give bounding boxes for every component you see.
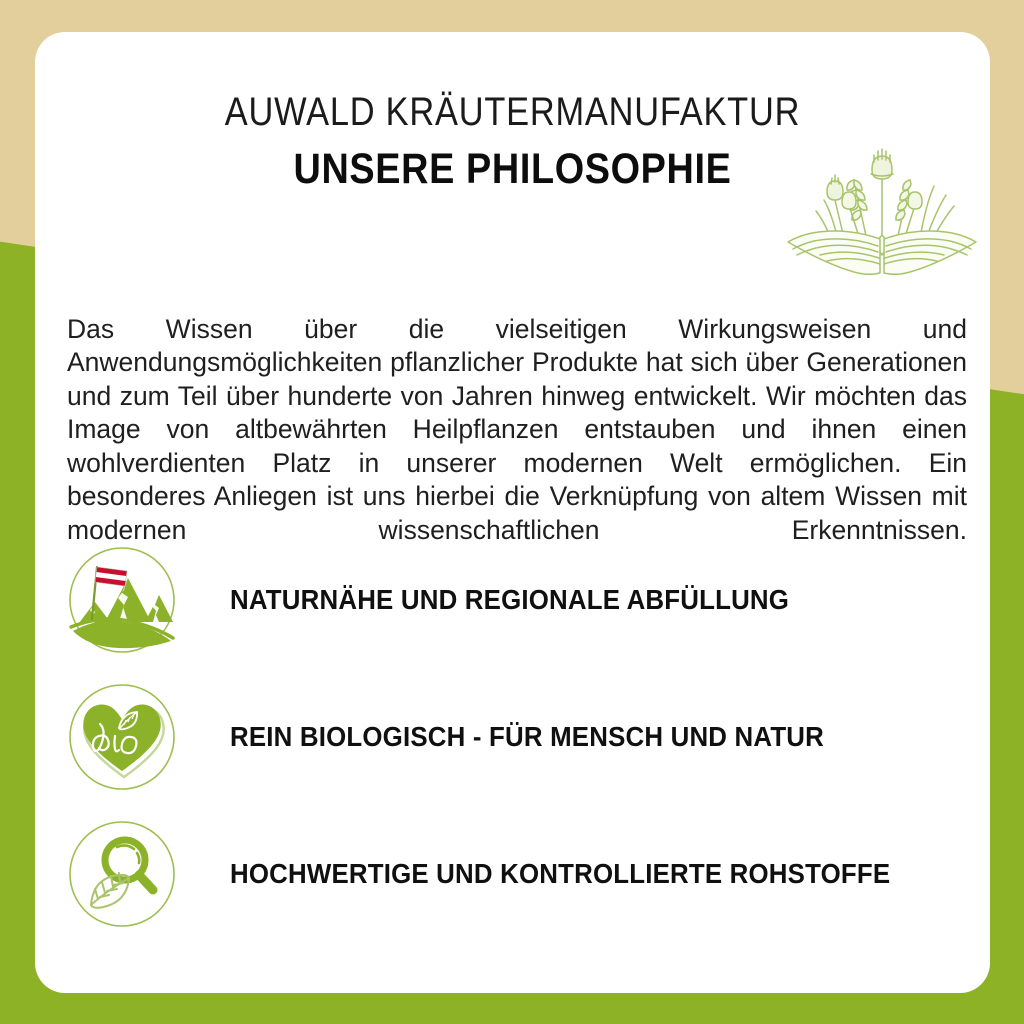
open-book-with-herbs-icon xyxy=(782,140,982,275)
feature-label: REIN BIOLOGISCH - FÜR MENSCH UND NATUR xyxy=(230,721,824,753)
content-card: AUWALD KRÄUTERMANUFAKTUR UNSERE PHILOSOP… xyxy=(35,32,990,993)
feature-row: NATURNÄHE UND REGIONALE ABFÜLLUNG xyxy=(67,545,967,655)
feature-row: HOCHWERTIGE UND KONTROLLIERTE ROHSTOFFE xyxy=(67,819,967,929)
brand-title: AUWALD KRÄUTERMANUFAKTUR xyxy=(102,90,923,135)
philosophy-paragraph: Das Wissen über die vielseitigen Wirkung… xyxy=(67,313,967,581)
feature-label: HOCHWERTIGE UND KONTROLLIERTE ROHSTOFFE xyxy=(230,858,890,890)
feature-row: REIN BIOLOGISCH - FÜR MENSCH UND NATUR xyxy=(67,682,967,792)
philosophy-infographic: AUWALD KRÄUTERMANUFAKTUR UNSERE PHILOSOP… xyxy=(0,0,1024,1024)
feature-label: NATURNÄHE UND REGIONALE ABFÜLLUNG xyxy=(230,584,789,616)
bio-heart-with-leaf-icon xyxy=(67,682,177,792)
magnifying-glass-with-leaf-icon xyxy=(67,819,177,929)
mountains-with-austrian-flag-icon xyxy=(67,545,177,655)
header: AUWALD KRÄUTERMANUFAKTUR UNSERE PHILOSOP… xyxy=(35,32,990,247)
